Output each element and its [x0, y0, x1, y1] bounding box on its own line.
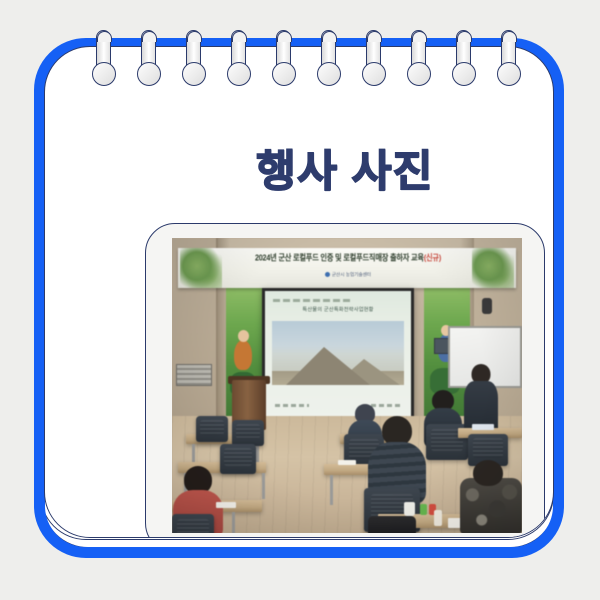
slide-title: 특산물의 군산특화전략사업현황	[265, 307, 411, 314]
white-bottle	[434, 510, 442, 526]
attendee-camo-head	[466, 460, 510, 486]
chair-left-back-2	[232, 420, 264, 446]
green-bottle	[420, 504, 427, 515]
banner-highlight-label: (신규)	[424, 252, 441, 262]
slide-image	[272, 321, 404, 385]
notebook-front-page: 행사 사진	[44, 46, 554, 538]
paper-cup	[404, 502, 415, 516]
desk-paper-left	[216, 502, 236, 508]
projection-screen: 특산물의 군산특화전략사업현황	[265, 291, 411, 417]
slide-eyebrow-line	[273, 299, 353, 302]
banner-organization: 군산시 농업기술센터	[222, 271, 474, 278]
banner-org-label: 군산시 농업기술센터	[332, 272, 371, 277]
wall-speaker-icon	[482, 298, 492, 314]
projection-screen-frame: 특산물의 군산특화전략사업현황	[262, 288, 414, 420]
slide-footer-left	[275, 404, 309, 407]
organization-logo-icon	[325, 272, 330, 277]
banner-main-label: 2024년 군산 로컬푸드 인증 및 로컬푸드직매장 출하자 교육	[255, 252, 424, 262]
banner-main-text: 2024년 군산 로컬푸드 인증 및 로컬푸드직매장 출하자 교육(신규)	[222, 252, 474, 264]
desk-paper-right	[338, 460, 356, 465]
chair-left-back-1	[196, 416, 228, 442]
poster-canvas: 행사 사진	[0, 0, 600, 600]
desk-paper-far-right	[472, 424, 494, 430]
attendee-camo-jacket	[460, 478, 522, 533]
chair-front-left	[172, 514, 214, 533]
event-banner: 2024년 군산 로컬푸드 인증 및 로컬푸드직매장 출하자 교육(신규) 군산…	[178, 248, 516, 288]
wall-louver	[176, 364, 212, 386]
photo-card[interactable]: 2024년 군산 로컬푸드 인증 및 로컬푸드직매장 출하자 교육(신규) 군산…	[145, 223, 545, 538]
photo-scene: 2024년 군산 로컬푸드 인증 및 로컬푸드직매장 출하자 교육(신규) 군산…	[172, 238, 522, 533]
event-photo: 2024년 군산 로컬푸드 인증 및 로컬푸드직매장 출하자 교육(신규) 군산…	[172, 238, 522, 533]
chair-left-mid	[220, 444, 256, 474]
black-bag	[368, 516, 416, 533]
banner-leaf-right-icon	[472, 248, 514, 288]
page-title: 행사 사진	[45, 151, 554, 194]
banner-leaf-left-icon	[180, 248, 222, 288]
